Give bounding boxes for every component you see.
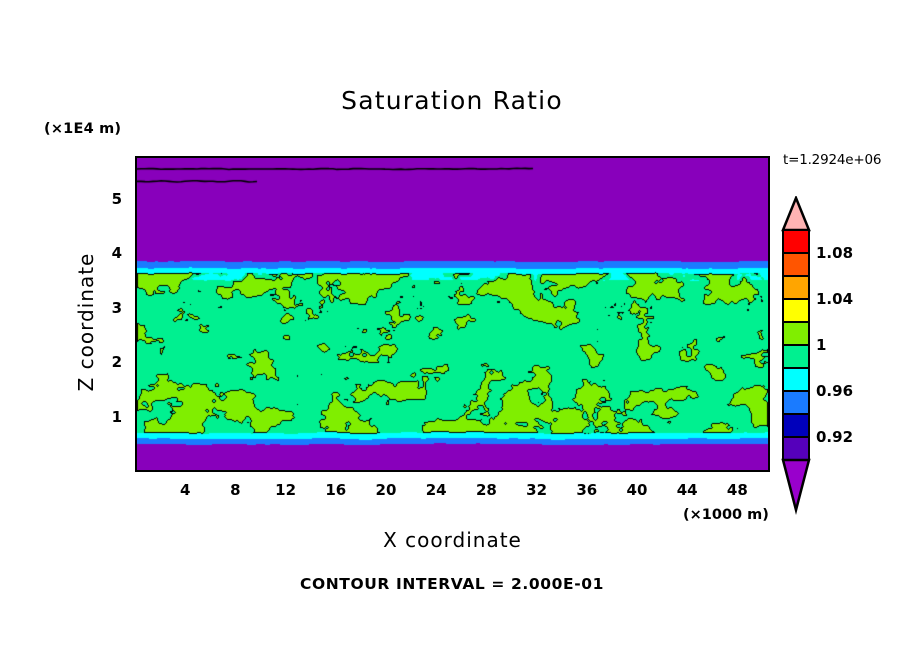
x-tick-label: 20 bbox=[366, 481, 406, 499]
colorbar-band bbox=[783, 276, 809, 299]
y-axis-unit-label: (×1E4 m) bbox=[44, 121, 121, 137]
colorbar-top-cap bbox=[783, 198, 809, 230]
colorbar-band bbox=[783, 368, 809, 391]
colorbar-band bbox=[783, 322, 809, 345]
colorbar-band bbox=[783, 437, 809, 460]
x-tick-label: 28 bbox=[466, 481, 506, 499]
x-tick-label: 32 bbox=[517, 481, 557, 499]
colorbar: 1.081.0410.960.92 bbox=[770, 196, 900, 526]
colorbar-tick-label: 1 bbox=[816, 336, 886, 354]
y-tick-label: 5 bbox=[98, 190, 122, 208]
colorbar-tick-label: 0.92 bbox=[816, 428, 886, 446]
y-tick-label: 4 bbox=[98, 244, 122, 262]
x-axis-title: X coordinate bbox=[135, 528, 770, 552]
contour-field-canvas bbox=[137, 158, 768, 470]
x-axis-unit-label: (×1000 m) bbox=[683, 507, 769, 523]
x-tick-label: 24 bbox=[416, 481, 456, 499]
x-tick-label: 12 bbox=[266, 481, 306, 499]
x-tick-label: 8 bbox=[215, 481, 255, 499]
y-tick-label: 2 bbox=[98, 353, 122, 371]
colorbar-tick-label: 1.08 bbox=[816, 244, 886, 262]
y-tick-label: 3 bbox=[98, 299, 122, 317]
colorbar-band bbox=[783, 299, 809, 322]
x-tick-label: 36 bbox=[567, 481, 607, 499]
colorbar-tick-label: 1.04 bbox=[816, 290, 886, 308]
colorbar-band bbox=[783, 414, 809, 437]
colorbar-band bbox=[783, 391, 809, 414]
colorbar-band bbox=[783, 230, 809, 253]
page-title: Saturation Ratio bbox=[0, 86, 904, 115]
timestamp-label: t=1.2924e+06 bbox=[783, 152, 881, 168]
contour-interval-caption: CONTOUR INTERVAL = 2.000E-01 bbox=[0, 575, 904, 593]
contour-plot-area bbox=[135, 156, 770, 472]
colorbar-tick-label: 0.96 bbox=[816, 382, 886, 400]
y-tick-label: 1 bbox=[98, 408, 122, 426]
y-axis-title: Z coordinate bbox=[74, 222, 98, 422]
x-tick-label: 4 bbox=[165, 481, 205, 499]
colorbar-bottom-cap bbox=[783, 460, 809, 510]
colorbar-band bbox=[783, 345, 809, 368]
x-tick-label: 48 bbox=[717, 481, 757, 499]
x-tick-label: 44 bbox=[667, 481, 707, 499]
x-tick-label: 16 bbox=[316, 481, 356, 499]
colorbar-band bbox=[783, 253, 809, 276]
x-tick-label: 40 bbox=[617, 481, 657, 499]
